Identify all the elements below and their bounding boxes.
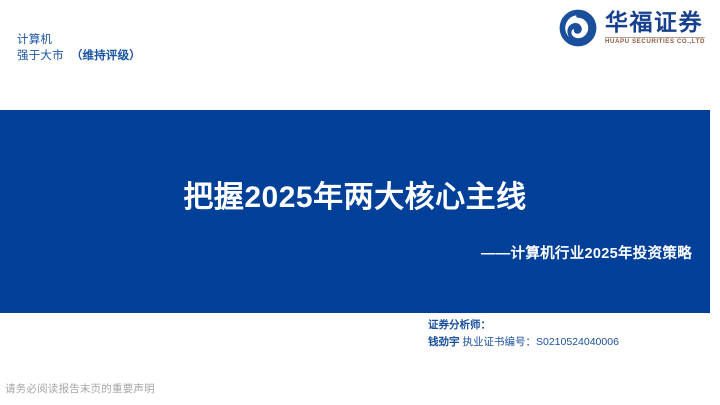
analyst-certificate-number: 执业证书编号：S0210524040006 — [463, 336, 619, 348]
analyst-detail-line: 钱劲宇执业证书编号：S0210524040006 — [428, 334, 619, 351]
brand-name-en: HUAPU SECURITIES CO.,LTD — [605, 37, 705, 46]
brand-logo: 华福证券 HUAPU SECURITIES CO.,LTD — [558, 8, 705, 48]
page-subtitle: ——计算机行业2025年投资策略 — [481, 242, 692, 263]
brand-name-cn: 华福证券 — [605, 11, 705, 34]
rating-line: 强于大市（维持评级） — [17, 49, 141, 65]
analyst-block: 证券分析师： 钱劲宇执业证书编号：S0210524040006 — [428, 317, 619, 352]
footer-disclaimer: 请务必阅读报告末页的重要声明 — [5, 381, 155, 396]
title-banner: 把握2025年两大核心主线 ——计算机行业2025年投资策略 — [0, 110, 710, 313]
industry-rating-block: 计算机 强于大市（维持评级） — [17, 33, 141, 64]
huapu-spiral-logo-icon — [558, 8, 598, 48]
page-title: 把握2025年两大核心主线 — [0, 172, 710, 216]
analyst-section-label: 证券分析师： — [428, 317, 619, 334]
industry-label: 计算机 — [17, 33, 141, 49]
analyst-name: 钱劲宇 — [428, 336, 460, 348]
brand-text: 华福证券 HUAPU SECURITIES CO.,LTD — [605, 11, 705, 46]
report-cover-slide: 计算机 强于大市（维持评级） 华福证券 HUAPU SECURITIES CO.… — [0, 0, 720, 405]
rating-status-badge: （维持评级） — [71, 50, 141, 62]
rating-label: 强于大市 — [17, 50, 64, 62]
